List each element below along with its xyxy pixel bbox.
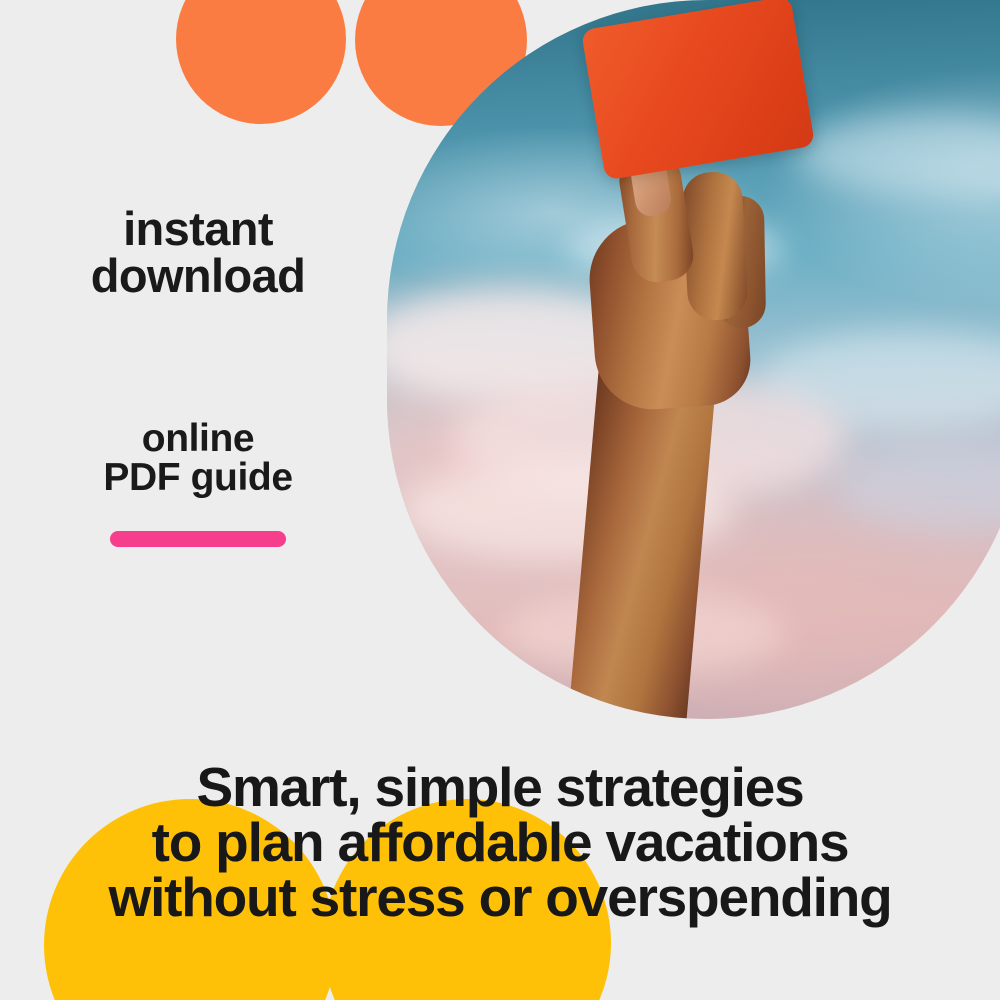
orange-circle-left [176,0,346,124]
hero-photo [387,0,1000,719]
accent-bar [110,531,286,547]
eyebrow-primary: instant download [62,205,334,299]
copy-block: instant download online PDF guide [62,205,334,547]
hero-photo-inner [387,0,1000,719]
headline: Smart, simple strategies to plan afforda… [0,760,1000,925]
eyebrow-secondary: online PDF guide [62,419,334,497]
promo-graphic-canvas: instant download online PDF guide Smart,… [0,0,1000,1000]
